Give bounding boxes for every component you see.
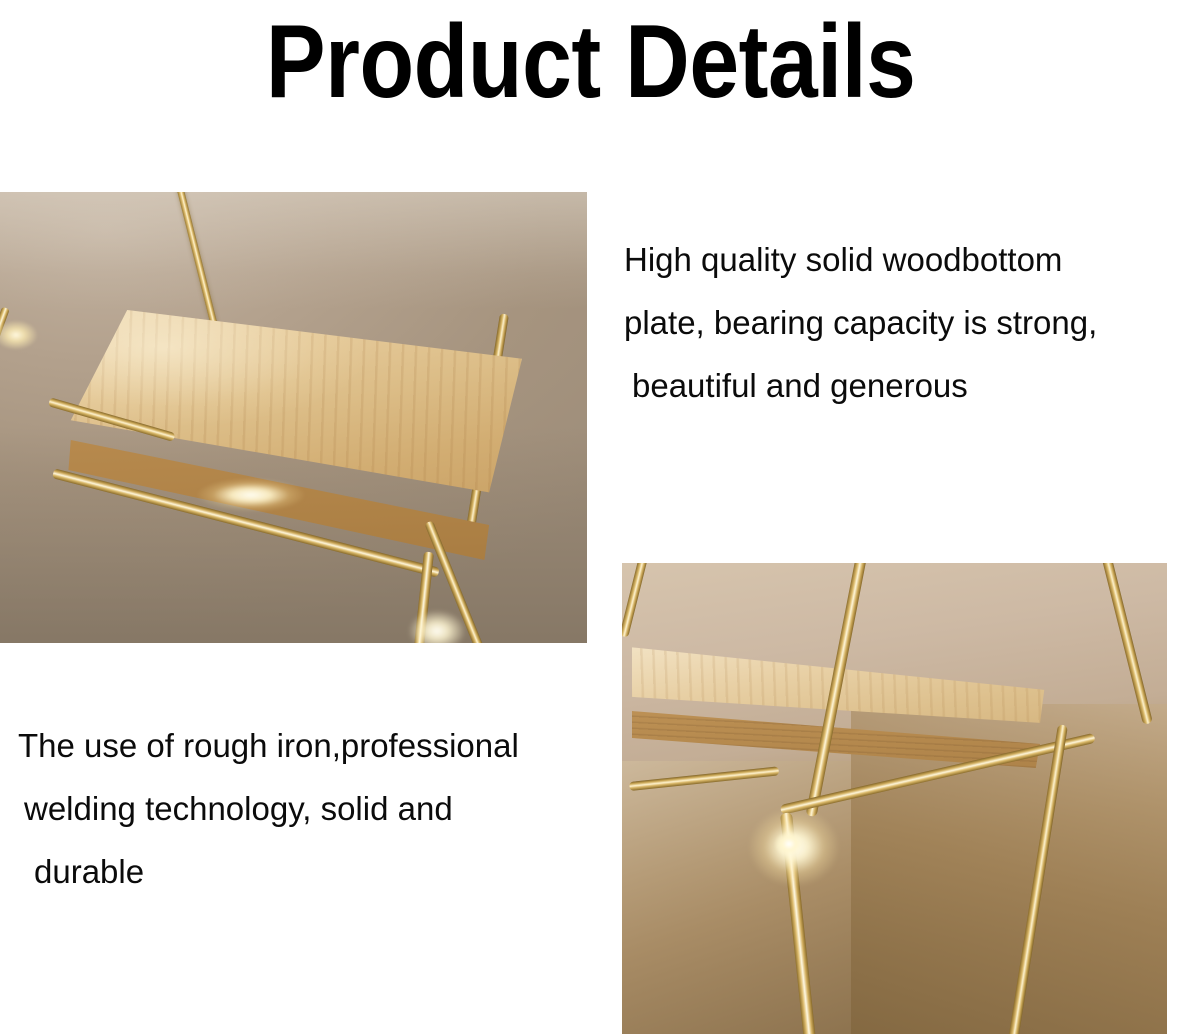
welding-caption-line-3: durable <box>18 840 598 903</box>
product-photo-joint-closeup <box>622 563 1167 1034</box>
page-title-text: Product Details <box>266 16 916 110</box>
photo-wall-highlight <box>0 192 587 309</box>
page-title: Product Details <box>0 0 1181 110</box>
quality-caption: High quality solid woodbottom plate, bea… <box>624 228 1181 417</box>
gold-rod-front-glint <box>196 478 306 512</box>
quality-caption-line-3: beautiful and generous <box>624 354 1181 417</box>
welding-caption-line-2: welding technology, solid and <box>18 777 598 840</box>
welding-caption: The use of rough iron,professional weldi… <box>18 714 598 903</box>
gold-rod-left-glint <box>0 320 38 350</box>
gold-rod-drop-glint <box>408 610 466 643</box>
product-photo-shelf-wide <box>0 192 587 643</box>
quality-caption-line-2: plate, bearing capacity is strong, <box>624 291 1181 354</box>
weld-joint-highlight <box>774 831 804 857</box>
quality-caption-line-1: High quality solid woodbottom <box>624 228 1181 291</box>
welding-caption-line-1: The use of rough iron,professional <box>18 714 598 777</box>
